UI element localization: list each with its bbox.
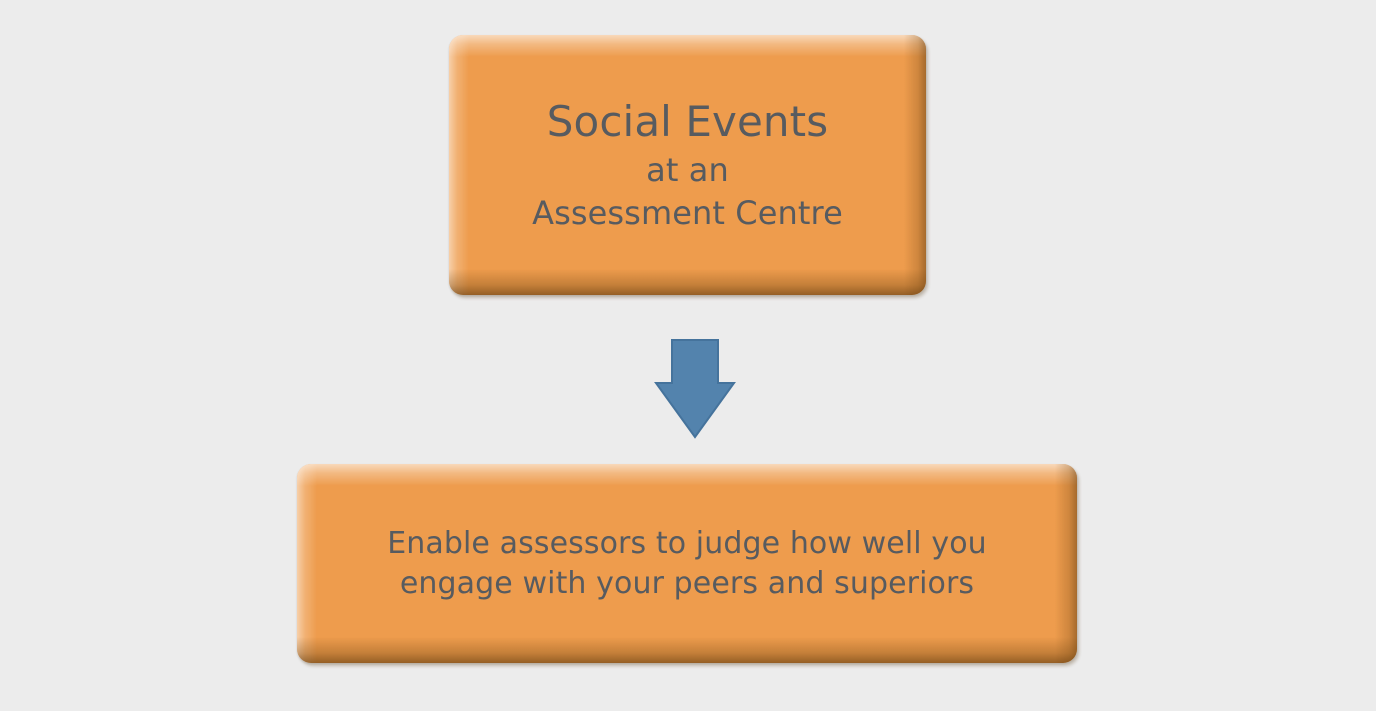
node-social-events-line-1: Social Events xyxy=(532,95,843,150)
node-purpose-line-1: Enable assessors to judge how well you xyxy=(387,524,987,564)
diagram-canvas: Social Events at an Assessment Centre En… xyxy=(0,0,1376,711)
node-purpose[interactable]: Enable assessors to judge how well you e… xyxy=(297,464,1077,663)
node-social-events-text: Social Events at an Assessment Centre xyxy=(518,95,857,235)
node-social-events-line-3: Assessment Centre xyxy=(532,192,843,235)
arrow-down-shape xyxy=(654,338,736,439)
node-purpose-line-2: engage with your peers and superiors xyxy=(387,564,987,604)
node-social-events[interactable]: Social Events at an Assessment Centre xyxy=(449,35,926,295)
node-social-events-line-2: at an xyxy=(532,149,843,192)
node-purpose-text: Enable assessors to judge how well you e… xyxy=(373,524,1001,603)
arrow-down-polygon xyxy=(656,340,734,437)
arrow-down-icon xyxy=(654,338,736,439)
